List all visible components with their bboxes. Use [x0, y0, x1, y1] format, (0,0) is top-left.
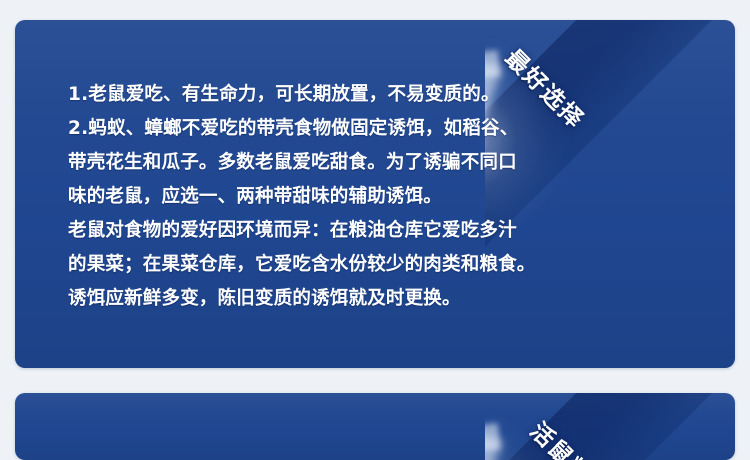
text-line: 诱饵应新鲜多变，陈旧变质的诱饵就及时更换。 — [68, 282, 695, 316]
ribbon-label: 活鼠粘 — [524, 413, 601, 460]
light-ray-icon — [485, 393, 502, 460]
light-ray-secondary-icon — [485, 423, 500, 460]
live-mouse-glue-panel: 活鼠粘 — [15, 393, 735, 460]
text-line: 1.老鼠爱吃、有生命力，可长期放置，不易变质的。 — [68, 78, 695, 112]
light-burst-glow-icon — [485, 393, 615, 460]
panel-sheen — [15, 393, 735, 460]
text-line: 2.蚂蚁、蟑螂不爱吃的带壳食物做固定诱饵，如稻谷、 — [68, 112, 695, 146]
text-line: 带壳花生和瓜子。多数老鼠爱吃甜食。为了诱骗不同口 — [68, 146, 695, 180]
text-line: 的果菜；在果菜仓库，它爱吃含水份较少的肉类和粮食。 — [68, 248, 695, 282]
corner-ribbon: 活鼠粘 — [485, 393, 735, 460]
page-canvas: 最好选择 1.老鼠爱吃、有生命力，可长期放置，不易变质的。 2.蚂蚁、蟑螂不爱吃… — [0, 0, 750, 460]
bait-tips-panel: 最好选择 1.老鼠爱吃、有生命力，可长期放置，不易变质的。 2.蚂蚁、蟑螂不爱吃… — [15, 20, 735, 368]
bait-tips-text: 1.老鼠爱吃、有生命力，可长期放置，不易变质的。 2.蚂蚁、蟑螂不爱吃的带壳食物… — [68, 78, 695, 316]
text-line: 味的老鼠，应选一、两种带甜味的辅助诱饵。 — [68, 180, 695, 214]
text-line: 老鼠对食物的爱好因环境而异：在粮油仓库它爱吃多汁 — [68, 214, 695, 248]
ribbon-band — [485, 393, 717, 460]
